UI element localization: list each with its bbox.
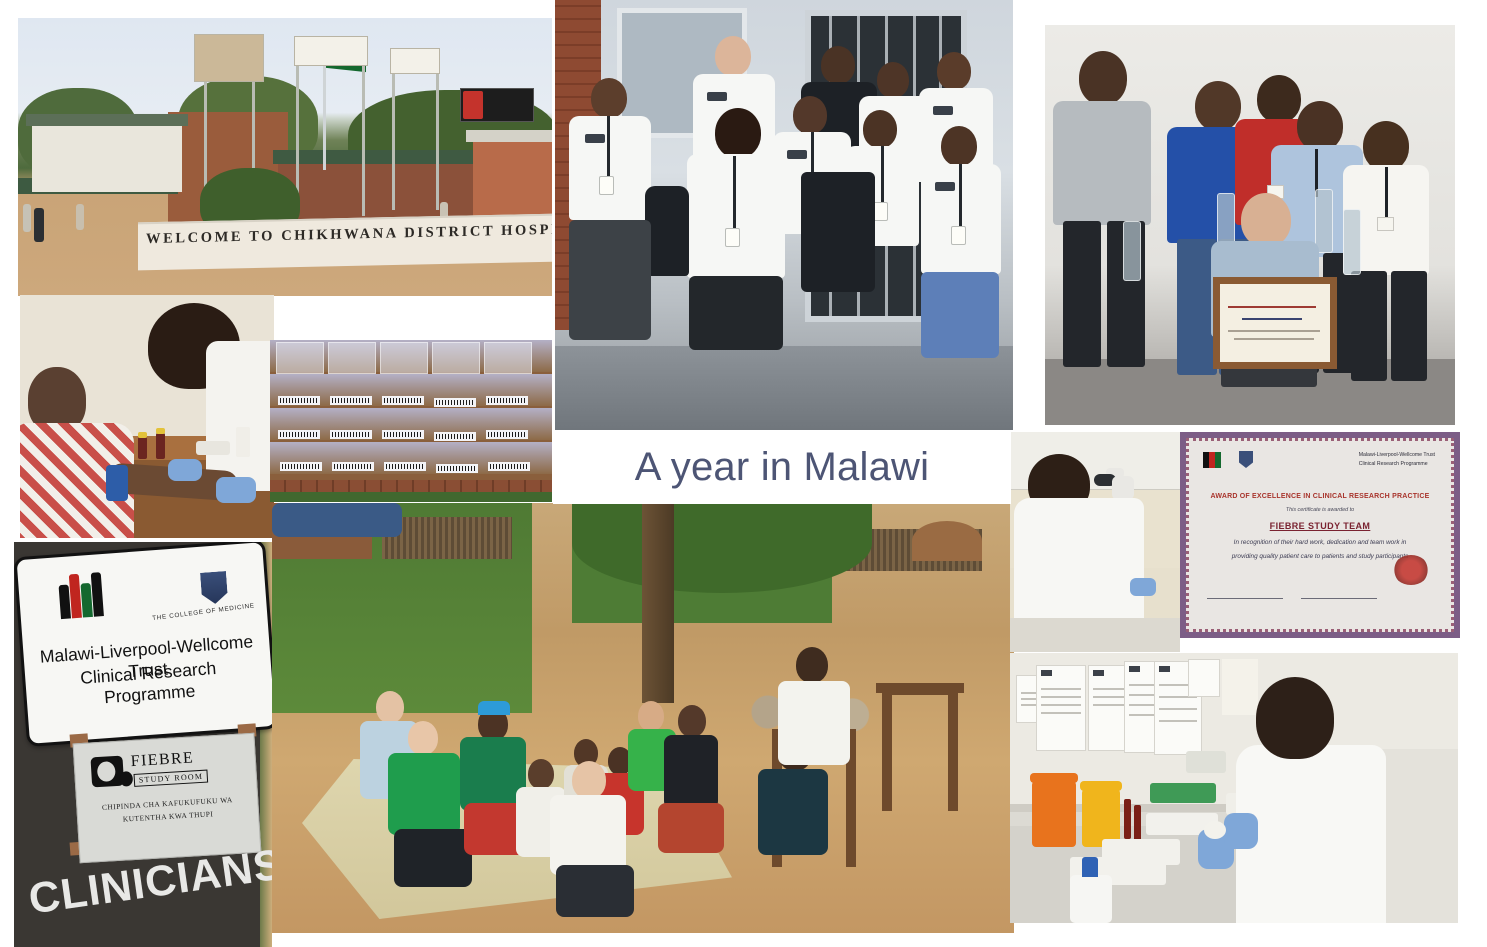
photo-award-certificate: Malawi-Liverpool-Wellcome Trust Clinical… [1180,432,1460,638]
photo-village-visit [272,503,1014,933]
fiebre-study-room-poster: FIEBRE STUDY ROOM CHIPINDA CHA KAFUKUFUK… [73,733,262,864]
fiebre-title: FIEBRE [130,749,194,771]
college-of-medicine-text: THE COLLEGE OF MEDICINE [152,602,255,622]
fiebre-dot-icon [119,771,133,787]
certificate-body-line-1: In recognition of their hard work, dedic… [1189,539,1451,546]
mw-logo-icon [58,572,105,619]
photo-blood-draw [20,295,274,538]
certificate-logos [1203,451,1253,468]
certificate-org-line-1: Malawi-Liverpool-Wellcome Trust [1359,451,1435,460]
photo-lab-bench [1010,653,1458,923]
certificate-seal-icon [1393,555,1429,585]
photo-mlw-signage: THE COLLEGE OF MEDICINE Malawi-Liverpool… [14,542,272,947]
mw-logo-icon [1203,452,1221,468]
mlw-sign-board: THE COLLEGE OF MEDICINE Malawi-Liverpool… [14,542,272,747]
college-of-medicine-crest-icon [1239,451,1253,468]
certificate-recipient: FIEBRE STUDY TEAM [1189,521,1451,531]
certificate-subheading: This certificate is awarded to [1189,507,1451,513]
photo-study-team-group [555,0,1013,430]
photo-hospital-entrance: WELCOME TO CHIKHWANA DISTRICT HOSPITAL [18,18,552,296]
fiebre-subtitle: STUDY ROOM [134,770,209,787]
photo-award-group [1045,25,1455,425]
certificate-org-line-2: Clinical Research Programme [1359,460,1435,469]
award-certificate-held [1213,277,1337,369]
page-title: A year in Malawi [635,445,929,490]
photo-sample-rack [270,340,552,502]
fiebre-logo-icon [90,756,124,788]
collage-title-banner: A year in Malawi [553,430,1011,504]
college-of-medicine-crest-icon [200,571,228,605]
photo-microscopy [1010,432,1180,652]
certificate-heading: AWARD OF EXCELLENCE IN CLINICAL RESEARCH… [1189,493,1451,500]
collage-canvas: WELCOME TO CHIKHWANA DISTRICT HOSPITAL [0,0,1487,947]
